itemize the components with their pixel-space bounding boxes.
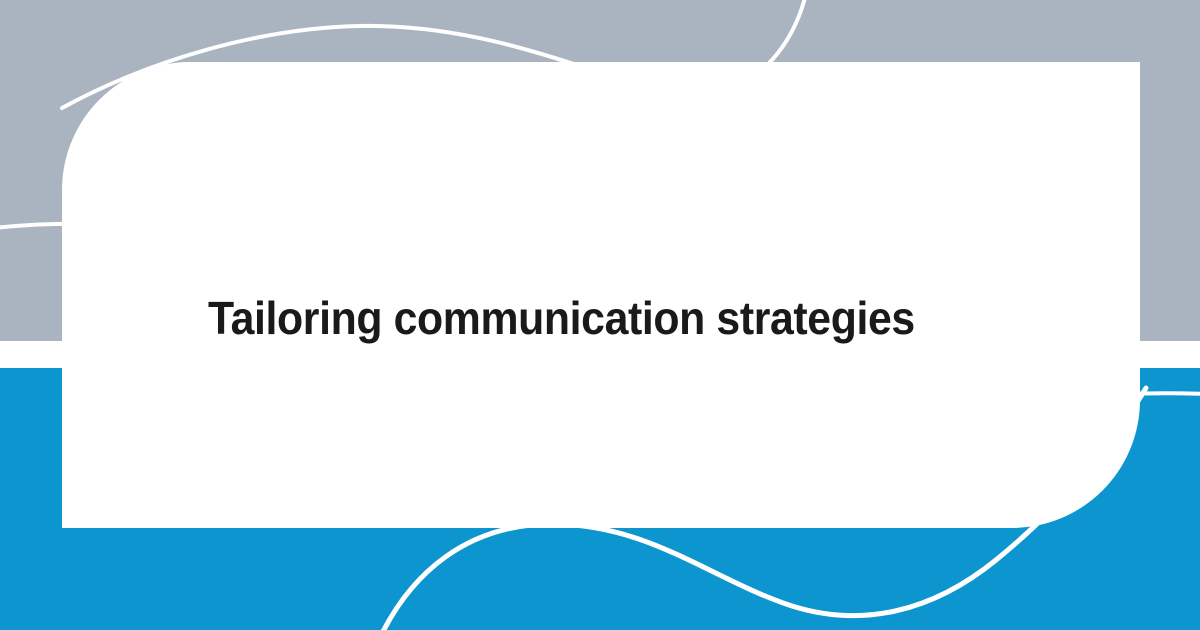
- page-title: Tailoring communication strategies: [208, 292, 980, 344]
- banner-canvas: Tailoring communication strategies: [0, 0, 1200, 630]
